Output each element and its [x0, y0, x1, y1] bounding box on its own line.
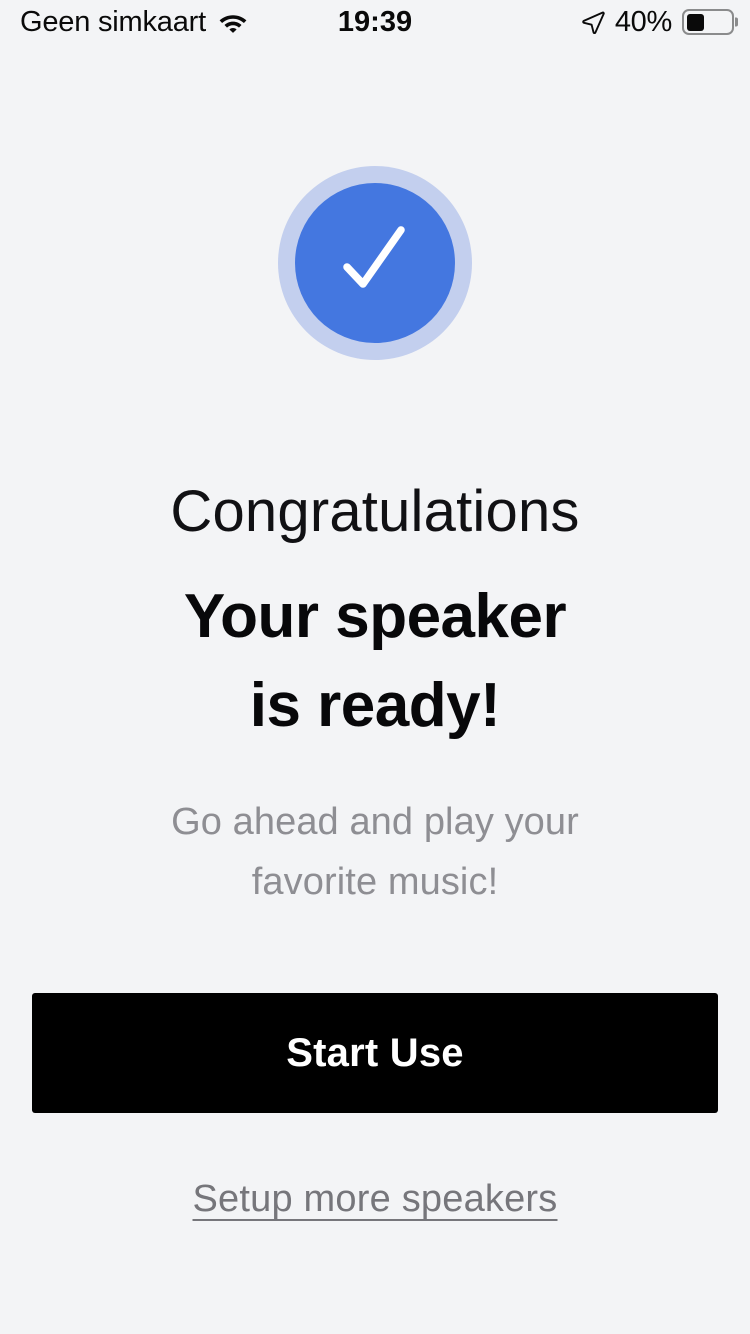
checkmark-icon — [295, 183, 455, 343]
status-bar-right: 40% — [581, 8, 734, 37]
status-bar-left: Geen simkaart — [20, 8, 248, 37]
clock-label: 19:39 — [338, 8, 412, 37]
battery-fill — [687, 14, 704, 31]
wifi-icon — [218, 11, 248, 33]
congratulations-title: Congratulations — [0, 480, 750, 544]
battery-percent-label: 40% — [615, 8, 672, 37]
subtitle-line-2: favorite music! — [0, 852, 750, 912]
location-arrow-icon — [581, 10, 605, 34]
subtitle-line-1: Go ahead and play your — [0, 792, 750, 852]
message-block: Congratulations Your speaker is ready! G… — [0, 480, 750, 912]
success-badge — [278, 166, 472, 360]
carrier-label: Geen simkaart — [20, 8, 206, 37]
status-bar: Geen simkaart 19:39 40% — [0, 0, 750, 44]
headline-line-2: is ready! — [0, 661, 750, 750]
headline-line-1: Your speaker — [0, 572, 750, 661]
subtitle: Go ahead and play your favorite music! — [0, 792, 750, 912]
setup-more-speakers-container: Setup more speakers — [0, 1178, 750, 1221]
battery-icon — [682, 9, 734, 35]
start-use-button[interactable]: Start Use — [32, 993, 718, 1113]
setup-more-speakers-link[interactable]: Setup more speakers — [193, 1178, 558, 1220]
headline: Your speaker is ready! — [0, 572, 750, 751]
